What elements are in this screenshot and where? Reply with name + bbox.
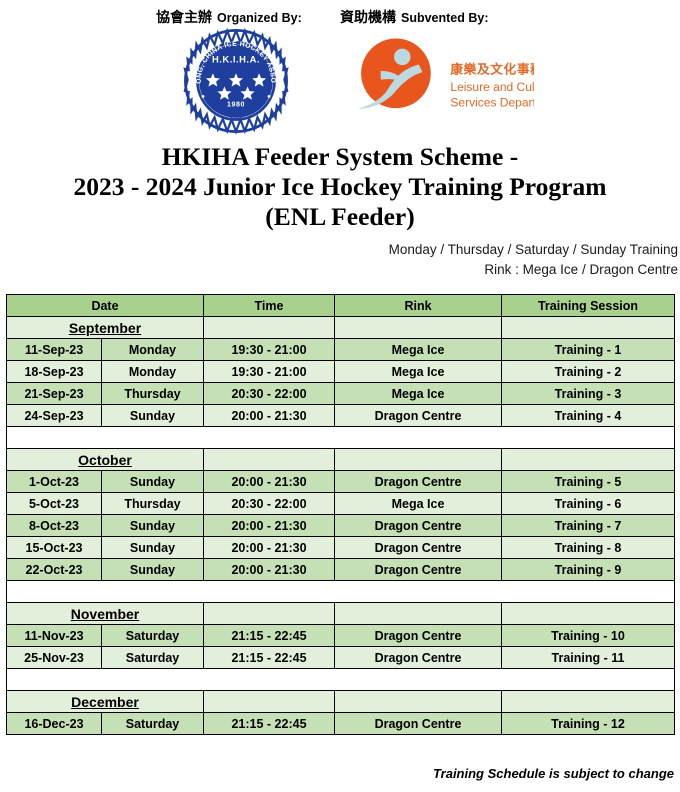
cell-weekday: Thursday [102, 383, 204, 405]
month-header-row: October [7, 449, 675, 471]
cell-session: Training - 3 [502, 383, 675, 405]
month-row-empty-cell [502, 317, 675, 339]
cell-session: Training - 8 [502, 537, 675, 559]
table-row: 11-Sep-23Monday19:30 - 21:00Mega IceTrai… [7, 339, 675, 361]
cell-date: 8-Oct-23 [7, 515, 102, 537]
cell-time: 20:00 - 21:30 [204, 471, 335, 493]
cell-time: 20:30 - 22:00 [204, 493, 335, 515]
table-row: 24-Sep-23Sunday20:00 - 21:30Dragon Centr… [7, 405, 675, 427]
month-row-empty-cell [204, 449, 335, 471]
svg-text:Leisure and Cultural: Leisure and Cultural [450, 80, 534, 94]
table-row: 22-Oct-23Sunday20:00 - 21:30Dragon Centr… [7, 559, 675, 581]
schedule-subtitle: Monday / Thursday / Saturday / Sunday Tr… [2, 240, 678, 280]
organized-by-label-en: Organized By: [217, 11, 302, 25]
table-row: 15-Oct-23Sunday20:00 - 21:30Dragon Centr… [7, 537, 675, 559]
subvented-by-credit: 資助機構Subvented By: [340, 7, 489, 27]
table-row: 11-Nov-23Saturday21:15 - 22:45Dragon Cen… [7, 625, 675, 647]
cell-rink: Dragon Centre [335, 405, 502, 427]
cell-time: 19:30 - 21:00 [204, 339, 335, 361]
cell-rink: Dragon Centre [335, 713, 502, 735]
cell-date: 24-Sep-23 [7, 405, 102, 427]
month-label: October [7, 449, 204, 471]
cell-time: 21:15 - 22:45 [204, 713, 335, 735]
title-line-2: 2023 - 2024 Junior Ice Hockey Training P… [0, 172, 680, 202]
cell-date: 25-Nov-23 [7, 647, 102, 669]
training-days-line: Monday / Thursday / Saturday / Sunday Tr… [2, 240, 678, 260]
svg-text:1980: 1980 [227, 100, 245, 108]
cell-date: 21-Sep-23 [7, 383, 102, 405]
cell-rink: Mega Ice [335, 383, 502, 405]
month-label: September [7, 317, 204, 339]
cell-time: 21:15 - 22:45 [204, 625, 335, 647]
cell-date: 22-Oct-23 [7, 559, 102, 581]
cell-date: 18-Sep-23 [7, 361, 102, 383]
column-header-rink: Rink [335, 295, 502, 317]
cell-weekday: Sunday [102, 537, 204, 559]
table-row: 25-Nov-23Saturday21:15 - 22:45Dragon Cen… [7, 647, 675, 669]
table-header-row: DateTimeRinkTraining Session [7, 295, 675, 317]
table-row: 5-Oct-23Thursday20:30 - 22:00Mega IceTra… [7, 493, 675, 515]
cell-session: Training - 7 [502, 515, 675, 537]
month-row-empty-cell [335, 317, 502, 339]
cell-weekday: Sunday [102, 405, 204, 427]
cell-session: Training - 1 [502, 339, 675, 361]
cell-session: Training - 11 [502, 647, 675, 669]
subvented-by-label-en: Subvented By: [401, 11, 489, 25]
table-row: 18-Sep-23Monday19:30 - 21:00Mega IceTrai… [7, 361, 675, 383]
cell-rink: Dragon Centre [335, 515, 502, 537]
spacer-cell [7, 669, 675, 691]
cell-date: 5-Oct-23 [7, 493, 102, 515]
svg-text:H.K.I.H.A.: H.K.I.H.A. [212, 54, 260, 64]
cell-session: Training - 5 [502, 471, 675, 493]
schedule-table-body: DateTimeRinkTraining SessionSeptember 11… [7, 295, 675, 735]
organized-by-label-zh: 協會主辦 [156, 10, 212, 26]
cell-session: Training - 12 [502, 713, 675, 735]
hkiha-logo: HONG KONG, CHINA ICE HOCKEY ASSOCIATION … [170, 26, 302, 136]
cell-time: 21:15 - 22:45 [204, 647, 335, 669]
cell-time: 20:00 - 21:30 [204, 405, 335, 427]
table-row: 21-Sep-23Thursday20:30 - 22:00Mega IceTr… [7, 383, 675, 405]
month-row-empty-cell [204, 603, 335, 625]
cell-session: Training - 9 [502, 559, 675, 581]
column-header-session: Training Session [502, 295, 675, 317]
credits-row: 協會主辦Organized By: 資助機構Subvented By: [0, 3, 680, 27]
cell-time: 19:30 - 21:00 [204, 361, 335, 383]
schedule-table: DateTimeRinkTraining SessionSeptember 11… [6, 294, 675, 735]
rink-line: Rink : Mega Ice / Dragon Centre [2, 260, 678, 280]
cell-weekday: Saturday [102, 713, 204, 735]
schedule-table-wrapper: DateTimeRinkTraining SessionSeptember 11… [6, 294, 674, 735]
cell-date: 16-Dec-23 [7, 713, 102, 735]
cell-rink: Dragon Centre [335, 647, 502, 669]
cell-session: Training - 10 [502, 625, 675, 647]
cell-weekday: Monday [102, 339, 204, 361]
month-block-gap [7, 669, 675, 691]
title-line-1: HKIHA Feeder System Scheme - [0, 142, 680, 172]
cell-rink: Mega Ice [335, 339, 502, 361]
cell-session: Training - 4 [502, 405, 675, 427]
cell-time: 20:00 - 21:30 [204, 559, 335, 581]
cell-session: Training - 6 [502, 493, 675, 515]
page-title: HKIHA Feeder System Scheme - 2023 - 2024… [0, 142, 680, 232]
month-row-empty-cell [335, 449, 502, 471]
month-block-gap [7, 581, 675, 603]
cell-rink: Dragon Centre [335, 559, 502, 581]
lcsd-logo: 康樂及文化事務署 Leisure and Cultural Services D… [344, 34, 534, 126]
cell-rink: Dragon Centre [335, 625, 502, 647]
month-row-empty-cell [502, 449, 675, 471]
cell-date: 1-Oct-23 [7, 471, 102, 493]
cell-weekday: Sunday [102, 515, 204, 537]
disclaimer-note: Training Schedule is subject to change [433, 766, 674, 781]
subvented-by-label-zh: 資助機構 [340, 10, 396, 26]
cell-rink: Mega Ice [335, 361, 502, 383]
month-label: December [7, 691, 204, 713]
cell-time: 20:00 - 21:30 [204, 537, 335, 559]
cell-weekday: Monday [102, 361, 204, 383]
column-header-time: Time [204, 295, 335, 317]
cell-session: Training - 2 [502, 361, 675, 383]
table-row: 8-Oct-23Sunday20:00 - 21:30Dragon Centre… [7, 515, 675, 537]
cell-rink: Dragon Centre [335, 537, 502, 559]
svg-text:Services Department: Services Department [450, 95, 534, 109]
organized-by-credit: 協會主辦Organized By: [156, 7, 302, 27]
cell-rink: Mega Ice [335, 493, 502, 515]
table-row: 16-Dec-23Saturday21:15 - 22:45Dragon Cen… [7, 713, 675, 735]
cell-weekday: Sunday [102, 471, 204, 493]
month-header-row: December [7, 691, 675, 713]
month-row-empty-cell [502, 603, 675, 625]
month-block-gap [7, 427, 675, 449]
spacer-cell [7, 427, 675, 449]
cell-date: 11-Nov-23 [7, 625, 102, 647]
cell-weekday: Saturday [102, 647, 204, 669]
cell-date: 11-Sep-23 [7, 339, 102, 361]
month-header-row: September [7, 317, 675, 339]
cell-time: 20:30 - 22:00 [204, 383, 335, 405]
month-row-empty-cell [335, 691, 502, 713]
title-line-3: (ENL Feeder) [0, 202, 680, 232]
cell-time: 20:00 - 21:30 [204, 515, 335, 537]
table-row: 1-Oct-23Sunday20:00 - 21:30Dragon Centre… [7, 471, 675, 493]
cell-weekday: Sunday [102, 559, 204, 581]
cell-weekday: Saturday [102, 625, 204, 647]
cell-weekday: Thursday [102, 493, 204, 515]
month-row-empty-cell [335, 603, 502, 625]
month-row-empty-cell [204, 317, 335, 339]
cell-rink: Dragon Centre [335, 471, 502, 493]
month-header-row: November [7, 603, 675, 625]
month-row-empty-cell [204, 691, 335, 713]
svg-text:康樂及文化事務署: 康樂及文化事務署 [450, 61, 534, 76]
column-header-date: Date [7, 295, 204, 317]
month-row-empty-cell [502, 691, 675, 713]
spacer-cell [7, 581, 675, 603]
cell-date: 15-Oct-23 [7, 537, 102, 559]
month-label: November [7, 603, 204, 625]
